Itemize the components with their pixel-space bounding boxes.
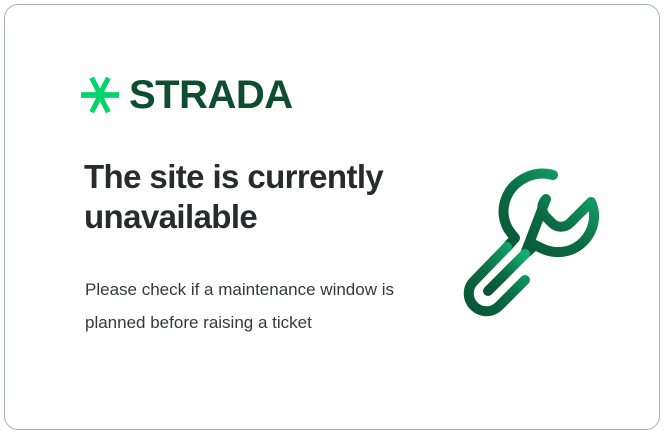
- page-title: The site is currently unavailable: [84, 157, 424, 238]
- page-description: Please check if a maintenance window is …: [85, 273, 395, 339]
- wrench-icon: [457, 157, 617, 322]
- strada-asterisk-icon: [81, 76, 119, 114]
- error-card: STRADA The site is currently unavailable…: [4, 4, 660, 430]
- brand-wordmark: STRADA: [129, 75, 293, 115]
- brand-lockup: STRADA: [81, 75, 293, 115]
